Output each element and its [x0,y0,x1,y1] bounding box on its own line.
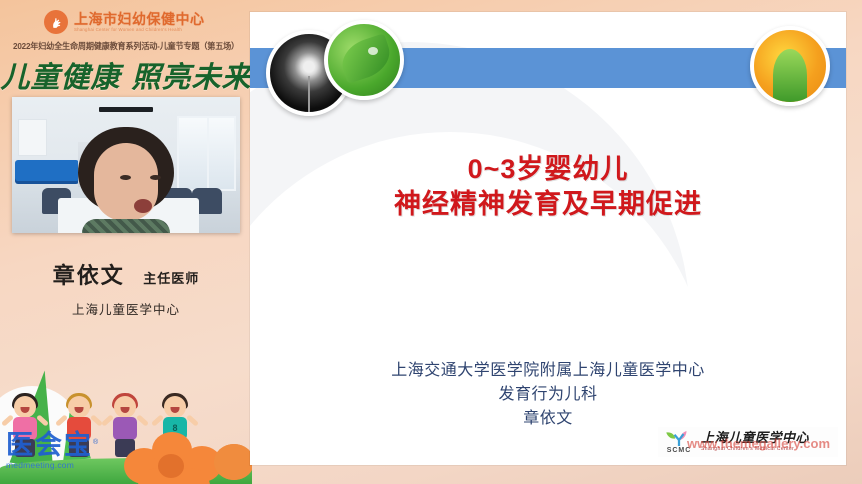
activity-line: 2022年妇幼全生命周期健康教育系列活动-儿童节专题（第五场） [4,40,248,52]
watermark-brand: 医会宝 [6,430,93,460]
speaker-name-row: 章依文 主任医师 [0,258,252,290]
subtitle-line-2: 发育行为儿科 [250,382,846,406]
speaker-organization: 上海儿童医学中心 [0,299,252,318]
registered-mark: ® [93,439,100,446]
hand-leaf-icon [44,10,68,34]
speaker-name: 章依文 [53,263,125,288]
ceiling-bar [99,107,154,112]
subtitle-line-1: 上海交通大学医学院附属上海儿童医学中心 [250,358,846,382]
slide-title: 0~3岁婴幼儿 神经精神发育及早期促进 [250,152,846,221]
speaker-figure [78,127,174,233]
medmeeting-watermark: 医会宝® medmeeting.com [6,432,102,470]
screen-root: 上海市妇幼保健中心 Shanghai Center for Women and … [0,0,862,484]
orange-flower-icon [214,444,252,484]
slide-title-line-2: 神经精神发育及早期促进 [250,187,846,222]
presentation-slide[interactable]: 0~3岁婴幼儿 神经精神发育及早期促进 上海交通大学医学院附属上海儿童医学中心 … [250,12,846,465]
blue-sofa [15,160,79,182]
left-info-panel: 上海市妇幼保健中心 Shanghai Center for Women and … [0,0,252,484]
organization-logo: 上海市妇幼保健中心 Shanghai Center for Women and … [44,10,205,34]
slide-title-line-1: 0~3岁婴幼儿 [250,152,846,187]
themegallery-watermark: www.themegallery.com [687,436,830,451]
wall-picture [18,119,47,156]
speaker-title: 主任医师 [143,271,199,286]
org-name-en: Shanghai Center for Women and Children's… [74,28,205,32]
slide-subtitle: 上海交通大学医学院附属上海儿童医学中心 发育行为儿科 章依文 [250,358,846,430]
org-name-cn: 上海市妇幼保健中心 [74,12,205,26]
orange-flower-icon [122,430,226,484]
speaker-video-tile[interactable] [12,97,240,233]
flower-circle-icon [750,26,830,106]
slogan-text: 儿童健康 照亮未来 [0,54,252,96]
watermark-url: medmeeting.com [6,460,102,470]
green-leaf-circle-icon [324,20,404,100]
window [177,116,236,191]
